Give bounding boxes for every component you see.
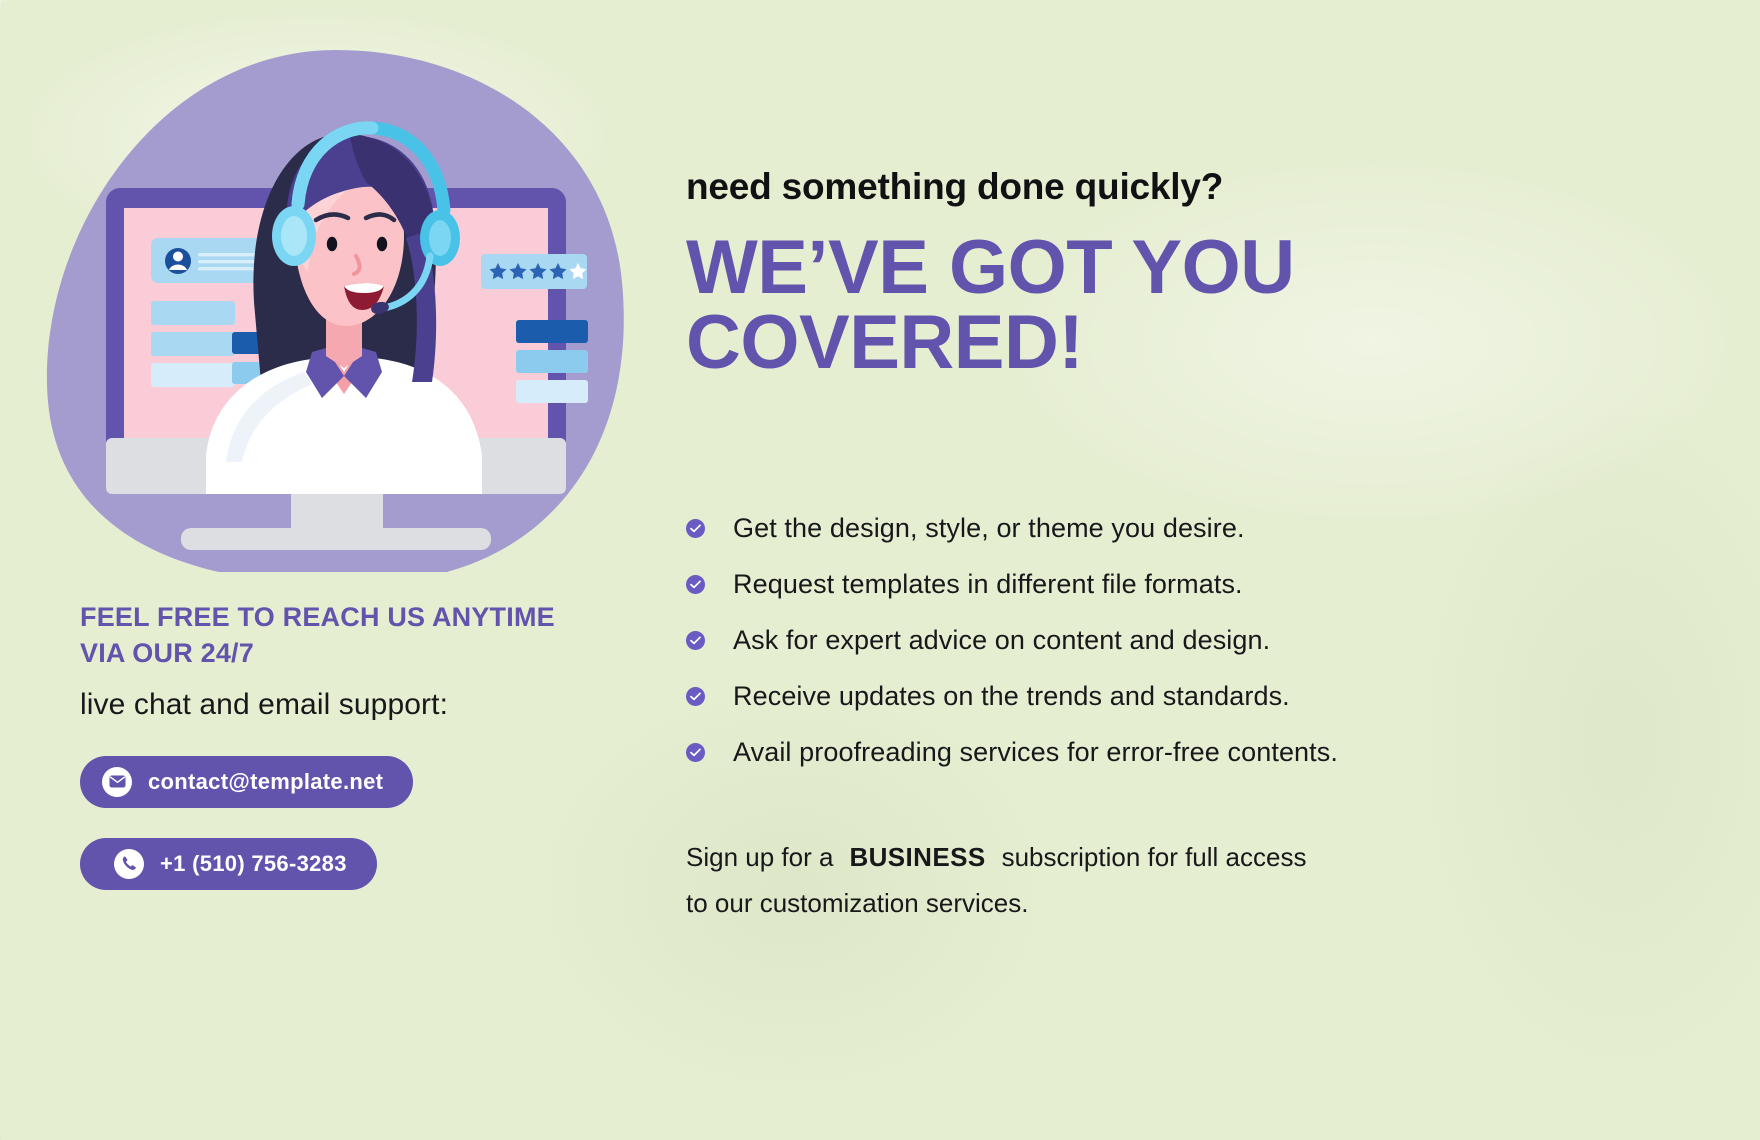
benefit-label: Receive updates on the trends and standa… [733,681,1290,712]
support-agent-illustration [26,42,646,572]
signup-after-text: subscription for full access [1002,842,1307,872]
envelope-icon [102,767,132,797]
list-item: Ask for expert advice on content and des… [686,612,1706,668]
headline-block: need something done quickly? WE’VE GOT Y… [686,166,1696,380]
live-chat-support-line: live chat and email support: [80,685,660,726]
benefit-label: Ask for expert advice on content and des… [733,625,1270,656]
list-item: Request templates in different file form… [686,556,1706,612]
reach-us-heading-line1: FEEL FREE TO REACH US ANYTIME [80,600,660,636]
list-item: Get the design, style, or theme you desi… [686,500,1706,556]
email-address-label: contact@template.net [148,769,383,795]
benefit-label: Get the design, style, or theme you desi… [733,513,1245,544]
main-headline-line1: WE’VE GOT YOU [686,230,1696,305]
promo-flyer-page: FEEL FREE TO REACH US ANYTIME VIA OUR 24… [0,0,1760,1140]
check-circle-icon [686,519,705,538]
phone-contact-button[interactable]: +1 (510) 756-3283 [80,838,377,890]
check-circle-icon [686,743,705,762]
signup-note-line1: Sign up for aBUSINESSsubscription for fu… [686,835,1606,881]
list-item: Avail proofreading services for error-fr… [686,724,1706,780]
benefit-label: Avail proofreading services for error-fr… [733,737,1338,768]
main-headline: WE’VE GOT YOU COVERED! [686,230,1696,380]
list-item: Receive updates on the trends and standa… [686,668,1706,724]
reach-us-heading-line2: VIA OUR 24/7 [80,636,660,672]
phone-number-label: +1 (510) 756-3283 [160,851,347,877]
check-circle-icon [686,575,705,594]
email-contact-button[interactable]: contact@template.net [80,756,413,808]
contact-block: FEEL FREE TO REACH US ANYTIME VIA OUR 24… [80,600,660,890]
signup-note: Sign up for aBUSINESSsubscription for fu… [686,835,1606,926]
benefit-label: Request templates in different file form… [733,569,1243,600]
signup-emphasis-text: BUSINESS [849,842,985,872]
reach-us-heading: FEEL FREE TO REACH US ANYTIME VIA OUR 24… [80,600,660,671]
benefits-list: Get the design, style, or theme you desi… [686,500,1706,780]
main-headline-line2: COVERED! [686,305,1696,380]
phone-icon [114,849,144,879]
signup-before-text: Sign up for a [686,842,833,872]
check-circle-icon [686,687,705,706]
eyebrow-text: need something done quickly? [686,166,1696,208]
signup-note-line2: to our customization services. [686,881,1606,927]
check-circle-icon [686,631,705,650]
